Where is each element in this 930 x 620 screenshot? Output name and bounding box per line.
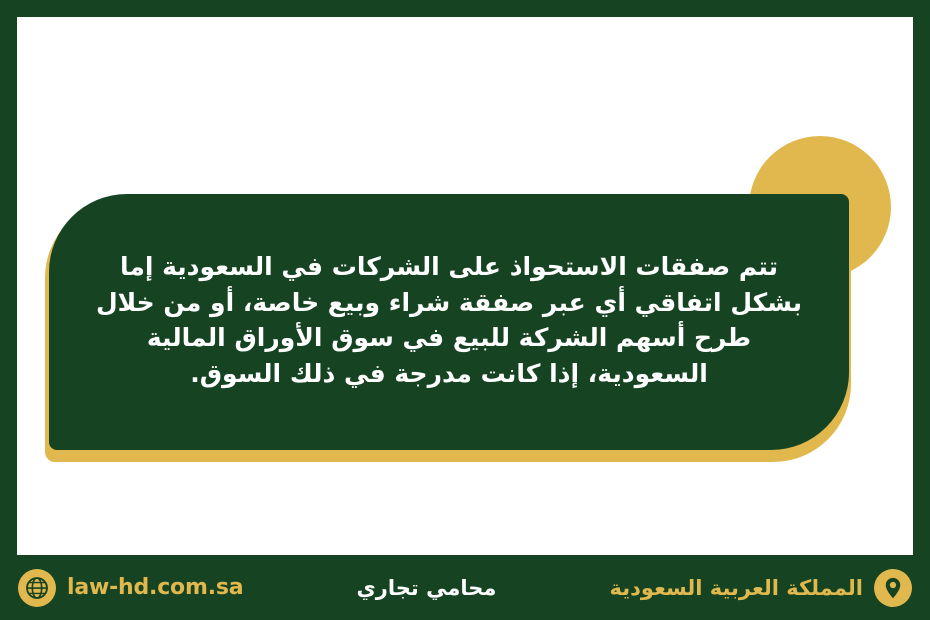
frame-border-left: [0, 0, 17, 620]
card-body-text: تتم صفقات الاستحواذ على الشركات في السعو…: [83, 249, 815, 391]
frame-border-right: [913, 0, 930, 620]
footer-specialty-label: محامي تجاري: [357, 576, 497, 600]
globe-icon: [18, 569, 56, 607]
footer-country-label: المملكة العربية السعودية: [610, 576, 863, 600]
footer-website-group[interactable]: law-hd.com.sa: [18, 569, 243, 607]
footer-website-label[interactable]: law-hd.com.sa: [67, 575, 243, 600]
location-pin-icon: [874, 569, 912, 607]
footer-bar: law-hd.com.sa محامي تجاري المملكة العربي…: [0, 555, 930, 620]
content-card: تتم صفقات الاستحواذ على الشركات في السعو…: [49, 194, 849, 450]
footer-location-group: المملكة العربية السعودية: [610, 569, 912, 607]
poster-canvas: تتم صفقات الاستحواذ على الشركات في السعو…: [0, 0, 930, 620]
frame-border-top: [0, 0, 930, 17]
